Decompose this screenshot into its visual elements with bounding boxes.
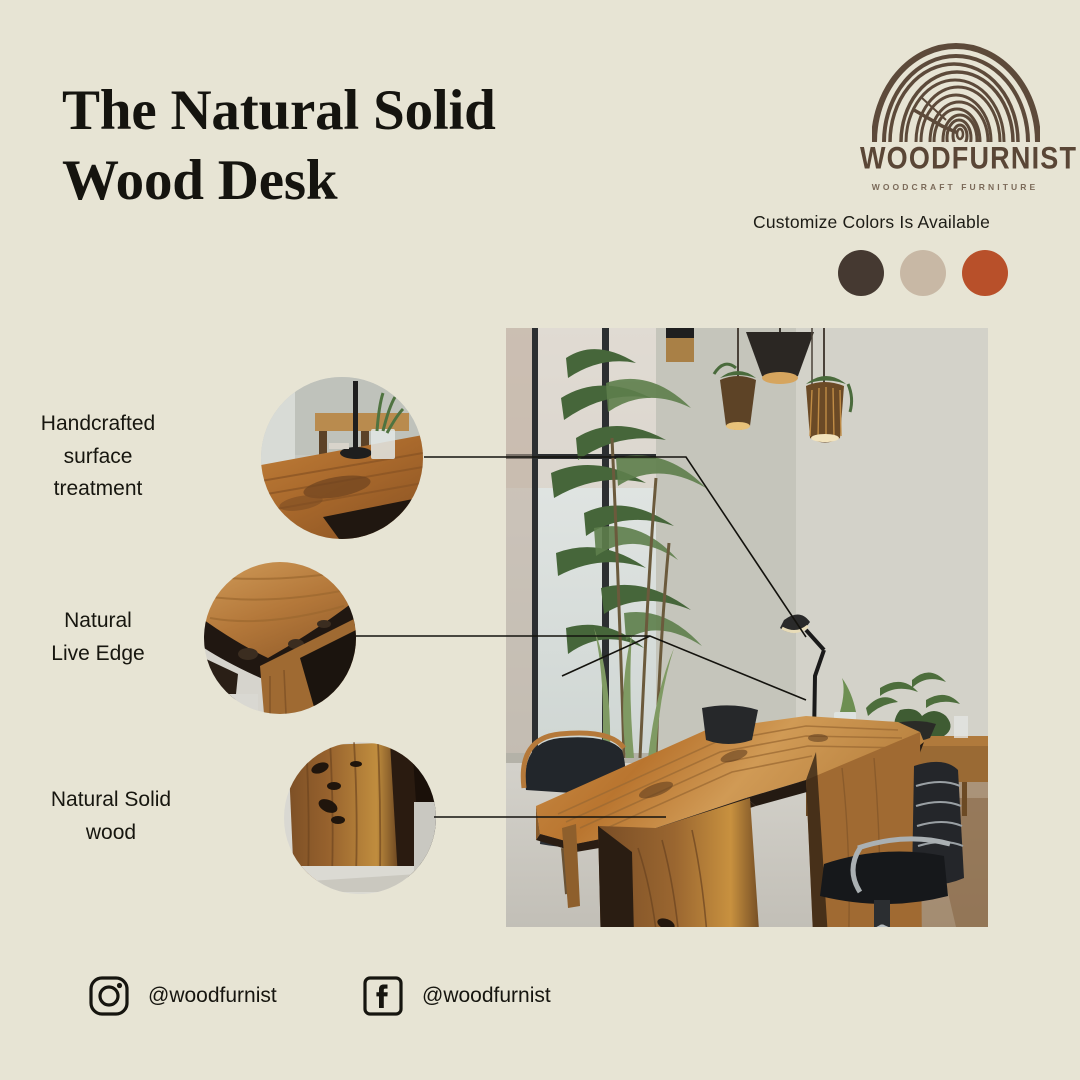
social-instagram[interactable]: @woodfurnist [88, 975, 277, 1017]
detail-circle-live-edge [204, 562, 356, 714]
brand-tagline: WOODCRAFT FURNITURE [860, 182, 1050, 192]
feature-label-line: treatment [0, 473, 196, 506]
feature-label-line: Live Edge [0, 638, 196, 671]
feature-label-natural-live-edge: Natural Live Edge [0, 605, 196, 670]
feature-label-line: Natural Solid [0, 784, 222, 817]
detail-circle-handcrafted-surface [261, 377, 423, 539]
page-title-line-2: Wood Desk [62, 146, 682, 216]
color-swatch-terracotta[interactable] [962, 250, 1008, 296]
detail-circle-solid-wood [284, 742, 436, 894]
page-title-line-1: The Natural Solid [62, 79, 496, 142]
color-swatch-group[interactable] [838, 250, 1008, 296]
product-photo-illustration [506, 328, 988, 927]
feature-label-line: wood [0, 817, 222, 850]
feature-label-line: Natural [0, 605, 196, 638]
facebook-handle[interactable]: @woodfurnist [422, 984, 551, 1008]
poster-canvas: The Natural Solid Wood Desk [0, 0, 1080, 1080]
feature-label-natural-solid-wood: Natural Solid wood [0, 784, 222, 849]
social-facebook[interactable]: @woodfurnist [362, 975, 551, 1017]
instagram-icon[interactable] [88, 975, 130, 1017]
customize-colors-label: Customize Colors Is Available [640, 212, 990, 233]
main-product-photo [506, 328, 988, 927]
brand-name: WOODFURNIST [860, 140, 1050, 177]
feature-label-handcrafted-surface-treatment: Handcrafted surface treatment [0, 408, 196, 506]
tree-rings-icon [872, 34, 1040, 142]
color-swatch-dark-brown[interactable] [838, 250, 884, 296]
feature-label-line: surface [0, 441, 196, 474]
instagram-handle[interactable]: @woodfurnist [148, 984, 277, 1008]
facebook-icon[interactable] [362, 975, 404, 1017]
brand-logo: WOODFURNIST WOODCRAFT FURNITURE [860, 34, 1050, 184]
page-title: The Natural Solid Wood Desk [62, 76, 682, 216]
feature-label-line: Handcrafted [0, 408, 196, 441]
color-swatch-warm-taupe[interactable] [900, 250, 946, 296]
